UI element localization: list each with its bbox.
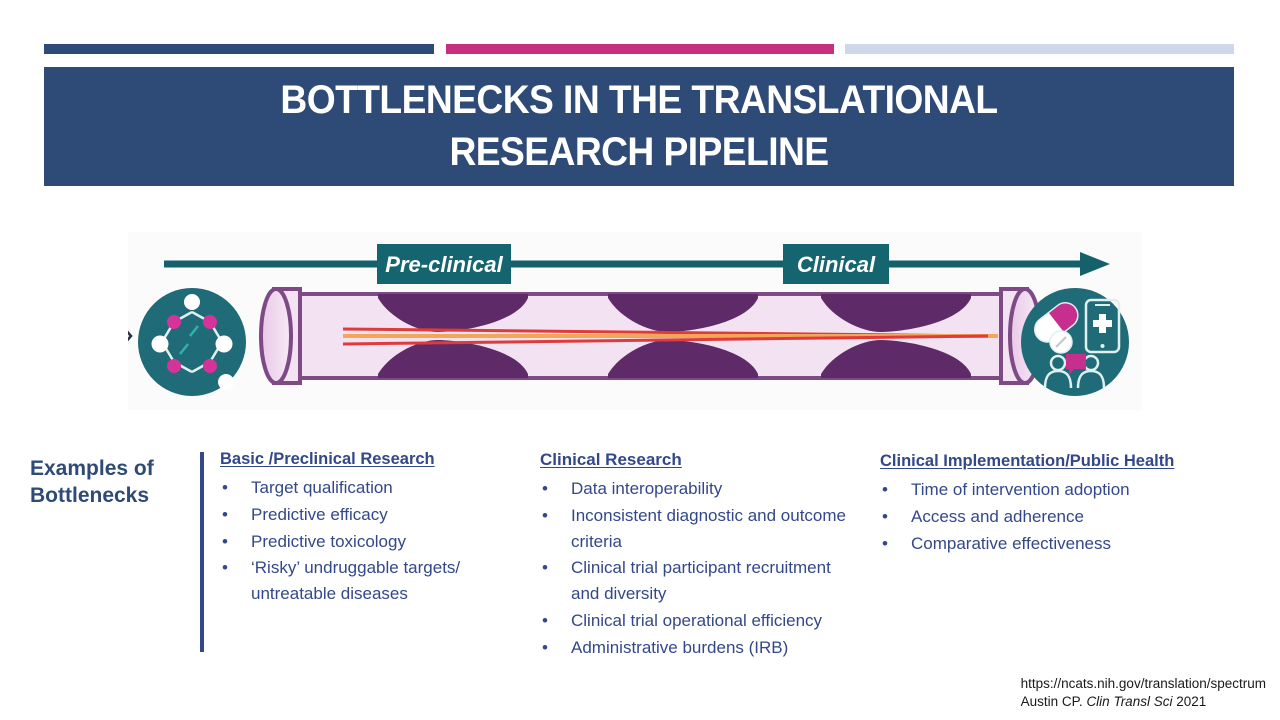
pipeline-diagram: Pre-clinical Clinical xyxy=(128,232,1142,410)
list-item: •Predictive efficacy xyxy=(220,502,520,528)
citation-url[interactable]: https://ncats.nih.gov/translation/spectr… xyxy=(1021,675,1266,694)
bullet-glyph: • xyxy=(222,475,228,501)
accent-bar-light-blue xyxy=(845,44,1234,54)
bullet-glyph: • xyxy=(542,503,548,529)
column-heading: Basic /Preclinical Research xyxy=(220,450,520,469)
list-item-label: Comparative effectiveness xyxy=(911,534,1111,553)
bullet-glyph: • xyxy=(882,504,888,530)
column-heading: Clinical Implementation/Public Health xyxy=(880,452,1250,471)
bullet-glyph: • xyxy=(882,531,888,557)
list-item: •‘Risky’ undruggable targets/ untreatabl… xyxy=(220,555,520,607)
list-item-label: ‘Risky’ undruggable targets/ untreatable… xyxy=(251,558,460,603)
list-item: •Target qualification xyxy=(220,475,520,501)
citation-reference: Austin CP. Clin Transl Sci 2021 xyxy=(1021,693,1266,712)
list-item: • Access and adherence xyxy=(880,504,1250,530)
column-clinical-implementation-public-health: Clinical Implementation/Public Health •T… xyxy=(880,452,1250,557)
bullet-list: •Data interoperability •Inconsistent dia… xyxy=(540,476,860,661)
citation-author: Austin CP. xyxy=(1021,694,1083,709)
list-item-label: Predictive efficacy xyxy=(251,505,388,524)
list-item: •Inconsistent diagnostic and outcome cri… xyxy=(540,503,860,555)
molecule-icon xyxy=(138,288,246,396)
list-item-label: Target qualification xyxy=(251,478,393,497)
citation: https://ncats.nih.gov/translation/spectr… xyxy=(1021,675,1266,712)
title-band: Bottlenecks in the Translational Researc… xyxy=(44,67,1234,186)
accent-bar-pink xyxy=(446,44,834,54)
list-item: •Comparative effectiveness xyxy=(880,531,1250,557)
list-item-label: Time of intervention adoption xyxy=(911,480,1130,499)
svg-text:Clinical: Clinical xyxy=(797,252,876,277)
bullet-glyph: • xyxy=(542,555,548,581)
column-basic-preclinical-research: Basic /Preclinical Research •Target qual… xyxy=(220,450,520,608)
stage-label-clinical: Clinical xyxy=(783,244,889,284)
list-item-label: Access and adherence xyxy=(911,507,1084,526)
svg-text:Pre-clinical: Pre-clinical xyxy=(385,252,503,277)
stage-label-preclinical: Pre-clinical xyxy=(377,244,511,284)
list-item: •Administrative burdens (IRB) xyxy=(540,635,860,661)
list-item-label: Data interoperability xyxy=(571,479,722,498)
page-title: Bottlenecks in the Translational Researc… xyxy=(197,75,1081,177)
citation-journal: Clin Transl Sci xyxy=(1086,694,1172,709)
list-item-label: Clinical trial operational efficiency xyxy=(571,611,822,630)
bullet-glyph: • xyxy=(542,635,548,661)
list-item-label: Clinical trial participant recruitment a… xyxy=(571,558,831,603)
list-item: •Data interoperability xyxy=(540,476,860,502)
list-item: •Predictive toxicology xyxy=(220,529,520,555)
bullet-glyph: • xyxy=(542,476,548,502)
slide: Bottlenecks in the Translational Researc… xyxy=(0,0,1280,720)
bullet-glyph: • xyxy=(222,529,228,555)
bullet-glyph: • xyxy=(542,608,548,634)
bullet-glyph: • xyxy=(882,477,888,503)
list-item-label: Administrative burdens (IRB) xyxy=(571,638,788,657)
stage-timeline-arrow xyxy=(164,252,1110,276)
column-clinical-research: Clinical Research •Data interoperability… xyxy=(540,450,860,662)
list-item: •Clinical trial participant recruitment … xyxy=(540,555,860,607)
left-arrow-fragment xyxy=(128,328,131,344)
bullet-glyph: • xyxy=(222,502,228,528)
column-heading: Clinical Research xyxy=(540,450,860,470)
list-item-label: Inconsistent diagnostic and outcome crit… xyxy=(571,506,846,551)
examples-of-bottlenecks-label: Examples of Bottlenecks xyxy=(30,455,190,510)
citation-year: 2021 xyxy=(1176,694,1206,709)
bullet-list: •Target qualification •Predictive effica… xyxy=(220,475,520,607)
bullet-list: •Time of intervention adoption • Access … xyxy=(880,477,1250,556)
list-item-label: Predictive toxicology xyxy=(251,532,406,551)
bullet-glyph: • xyxy=(222,555,228,581)
list-item: •Clinical trial operational efficiency xyxy=(540,608,860,634)
medicine-patients-icon xyxy=(1021,288,1129,396)
list-item: •Time of intervention adoption xyxy=(880,477,1250,503)
vertical-divider xyxy=(200,452,204,652)
accent-bar-navy xyxy=(44,44,434,54)
